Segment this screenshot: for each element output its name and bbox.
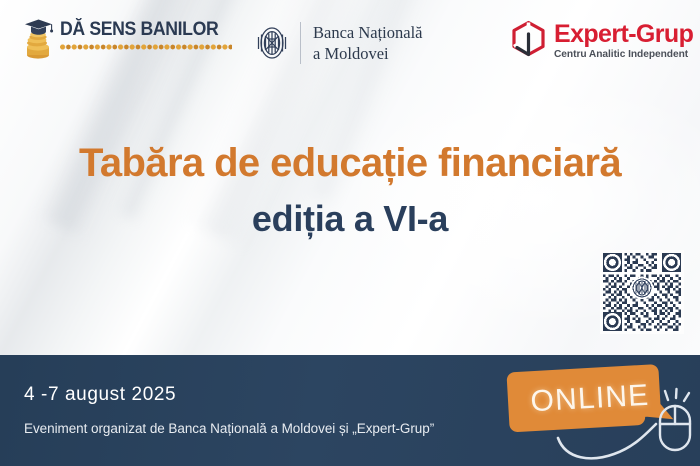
online-badge: ONLINE (496, 362, 700, 466)
logo-expert-grup-name: Expert-Grup (554, 22, 693, 47)
logo-da-sens-banilor: DĂ SENS BANILOR (22, 14, 232, 60)
coin-row-ornament (60, 43, 232, 51)
event-organizer-note: Eveniment organizat de Banca Națională a… (24, 421, 434, 436)
bnm-line-2: a Moldovei (313, 43, 423, 64)
speech-bubble-shape (506, 363, 673, 432)
bnm-monogram-emblem (252, 20, 292, 66)
page-title: Tabăra de educație financiară (0, 142, 700, 185)
event-poster: DĂ SENS BANILOR (0, 0, 700, 466)
logo-divider (300, 22, 301, 64)
hexagon-cube-icon (508, 20, 548, 62)
headline-block: Tabăra de educație financiară ediția a V… (0, 142, 700, 239)
graduation-cap-on-coins-icon (22, 14, 56, 60)
page-subtitle: ediția a VI-a (0, 199, 700, 239)
logo-expert-grup: Expert-Grup Centru Analitic Independent (508, 20, 693, 62)
logo-banca-nationala: Banca Națională a Moldovei (252, 20, 423, 66)
computer-mouse-icon (660, 389, 690, 450)
logo-row: DĂ SENS BANILOR (0, 0, 700, 86)
bnm-monogram-emblem (633, 279, 651, 297)
logo-banca-nationala-text: Banca Națională a Moldovei (313, 22, 423, 64)
logo-expert-grup-tagline: Centru Analitic Independent (554, 49, 693, 60)
qr-code-icon[interactable] (600, 250, 684, 334)
bnm-line-1: Banca Națională (313, 22, 423, 43)
logo-da-sens-banilor-text: DĂ SENS BANILOR (60, 20, 220, 39)
event-date: 4 -7 august 2025 (24, 384, 176, 406)
